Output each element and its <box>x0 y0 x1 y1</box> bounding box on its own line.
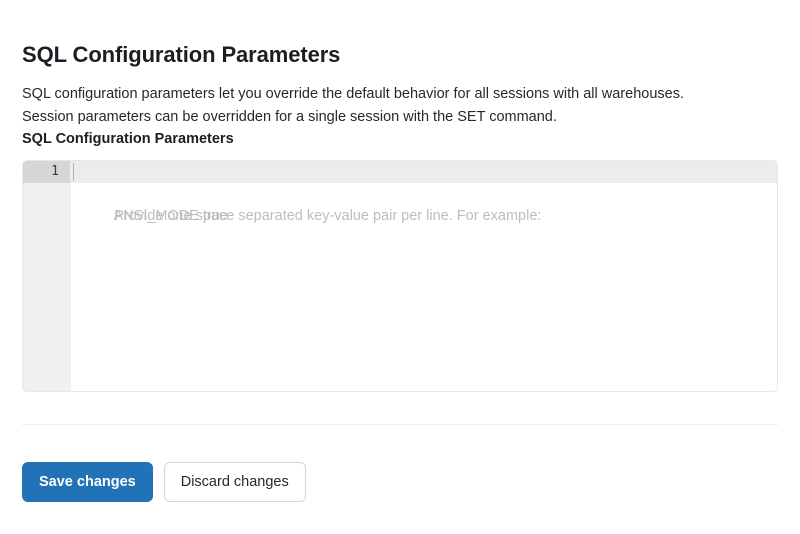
description-line-1: SQL configuration parameters let you ove… <box>22 83 762 106</box>
sql-configuration-parameters-page: SQL Configuration Parameters SQL configu… <box>0 0 800 534</box>
save-changes-button[interactable]: Save changes <box>22 462 153 502</box>
sql-config-parameters-label: SQL Configuration Parameters <box>22 105 234 147</box>
editor-placeholder-line-1: Provide one space separated key-value pa… <box>71 161 777 183</box>
discard-changes-button[interactable]: Discard changes <box>164 462 306 502</box>
line-number-1: 1 <box>23 161 70 183</box>
editor-placeholder-text-2: ANSI_MODE true <box>113 208 227 224</box>
editor-code-area[interactable]: Provide one space separated key-value pa… <box>71 161 777 391</box>
form-actions: Save changes Discard changes <box>22 433 778 502</box>
page-title: SQL Configuration Parameters <box>22 0 778 69</box>
editor-placeholder-line-2: ANSI_MODE true <box>71 183 777 205</box>
sql-config-parameters-editor[interactable]: 1 Provide one space separated key-value … <box>22 160 778 392</box>
editor-line-number-gutter: 1 <box>23 161 71 391</box>
text-caret <box>73 163 74 181</box>
section-divider <box>22 424 778 425</box>
